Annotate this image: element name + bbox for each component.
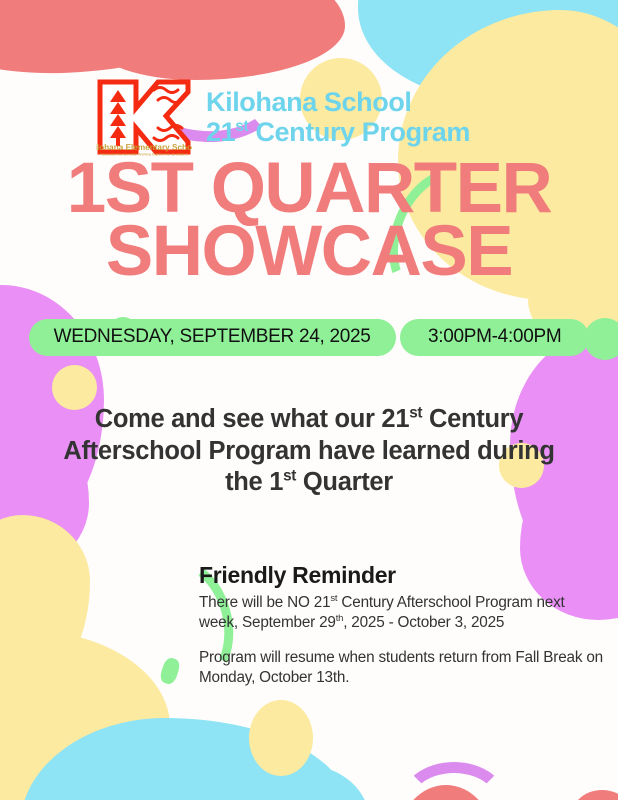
reminder-paragraph-1: There will be NO 21st Century Afterschoo…: [199, 593, 604, 633]
description-seg-1: Come and see what our 21: [95, 405, 409, 433]
event-time-badge: 3:00PM-4:00PM: [400, 319, 589, 356]
page-title: 1ST QUARTER SHOWCASE: [0, 157, 618, 283]
description-ordinal-1: st: [409, 405, 422, 422]
header-line-1: Kilohana School: [206, 87, 412, 117]
event-details: WEDNESDAY, SEPTEMBER 24, 2025 3:00PM-4:0…: [0, 311, 618, 356]
reminder-heading: Friendly Reminder: [199, 562, 604, 589]
event-description: Come and see what our 21st Century After…: [60, 404, 558, 499]
flyer-header: Kilohana Elementary School 'Hana Like No…: [96, 78, 470, 156]
friendly-reminder-section: Friendly Reminder There will be NO 21st …: [199, 562, 604, 688]
flyer-canvas: Kilohana Elementary School 'Hana Like No…: [0, 0, 618, 800]
header-line-2-ordinal: st: [235, 118, 248, 135]
reminder-p1-seg-1: There will be NO 21: [199, 594, 330, 611]
header-line-2-number: 21: [206, 117, 235, 147]
program-name: Kilohana School 21st Century Program: [206, 87, 470, 147]
header-line-2-rest: Century Program: [248, 117, 470, 147]
kilohana-school-logo-icon: Kilohana Elementary School 'Hana Like No…: [96, 78, 192, 156]
reminder-paragraph-2: Program will resume when students return…: [199, 648, 604, 688]
description-ordinal-2: st: [283, 468, 296, 485]
reminder-p1-seg-3: , 2025 - October 3, 2025: [343, 614, 504, 631]
description-seg-3: Quarter: [296, 468, 393, 496]
event-date-badge: WEDNESDAY, SEPTEMBER 24, 2025: [29, 319, 396, 356]
title-line-1: 1ST QUARTER: [0, 157, 618, 220]
title-line-2: SHOWCASE: [0, 220, 618, 283]
